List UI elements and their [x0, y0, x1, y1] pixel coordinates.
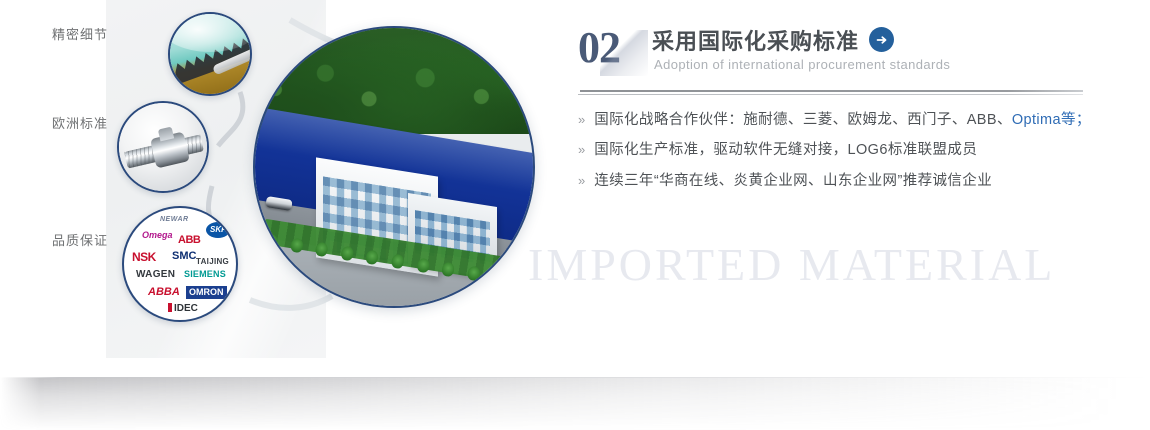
label-quality-assurance: 品质保证 [52, 230, 108, 249]
brand-logo-cloud: NEWAR SKF Omega ABB NSK SMC TAIJING WAGE… [124, 208, 236, 320]
list-item: » 国际化生产标准，驱动软件无缝对接，LOG6标准联盟成员 [578, 142, 1090, 159]
bullet-marker-icon: » [578, 113, 585, 126]
bullet-text-lead: 国际化战略合作伙伴：施耐德、三菱、欧姆龙、西门子、ABB、 [594, 112, 1012, 128]
section-title-zh: 采用国际化采购标准 [652, 24, 859, 56]
list-item: » 国际化战略合作伙伴：施耐德、三菱、欧姆龙、西门子、ABB、Optima等； [578, 112, 1090, 129]
bullet-text: 国际化生产标准，驱动软件无缝对接，LOG6标准联盟成员 [594, 142, 977, 159]
label-precision: 精密细节 [52, 24, 108, 43]
label-european-standard: 欧洲标准 [52, 113, 108, 132]
header-divider [578, 90, 1083, 95]
bullet-text-highlight: Optima等； [1012, 112, 1091, 128]
bubble-brand-logos: NEWAR SKF Omega ABB NSK SMC TAIJING WAGE… [122, 206, 238, 322]
brand-logo-omron: OMRON [186, 286, 227, 299]
section-content: 02 采用国际化采购标准 Adoption of international p… [578, 24, 1090, 90]
brand-logo-idec: IDEC [168, 303, 198, 314]
brand-logo-wagen: WAGEN [136, 270, 175, 280]
factory-aerial-photo [253, 26, 535, 308]
list-item: » 连续三年“华商在线、炎黄企业网、山东企业网”推荐诚信企业 [578, 173, 1090, 190]
bubble-ball-screw [117, 101, 209, 193]
arrow-right-icon[interactable] [869, 27, 894, 52]
section-number: 02 [578, 26, 620, 70]
bullet-text-lead: 连续三年“华商在线、炎黄企业网、山东企业网”推荐诚信企业 [594, 173, 992, 189]
brand-logo-abb: ABB [178, 235, 200, 246]
brand-logo-siemens: SIEMENS [184, 270, 226, 279]
bottom-shadow-band [0, 378, 1150, 430]
gloss-highlight [168, 12, 252, 52]
brand-logo-newar: NEWAR [160, 216, 189, 223]
feature-bullet-list: » 国际化战略合作伙伴：施耐德、三菱、欧姆龙、西门子、ABB、Optima等； … [578, 112, 1090, 203]
bullet-text-lead: 国际化生产标准，驱动软件无缝对接，LOG6标准联盟成员 [594, 142, 977, 158]
bubble-precision-detail [168, 12, 252, 96]
bottom-hairline [0, 377, 1150, 378]
bullet-marker-icon: » [578, 174, 585, 187]
brand-logo-nsk: NSK [132, 251, 156, 263]
brand-logo-abba: ABBA [148, 287, 180, 298]
bullet-text: 国际化战略合作伙伴：施耐德、三菱、欧姆龙、西门子、ABB、Optima等； [594, 112, 1091, 129]
section-title-en: Adoption of international procurement st… [654, 57, 950, 72]
brand-logo-taijing: TAIJING [196, 258, 229, 266]
promo-banner: 精密细节 欧洲标准 品质保证 NEWAR SKF Omega ABB NSK S… [0, 0, 1150, 430]
brand-logo-omega: Omega [142, 231, 173, 240]
watermark-text: IMPORTED MATERIAL [528, 238, 1055, 291]
brand-logo-smc: SMC [172, 251, 196, 262]
brand-logo-skf: SKF [206, 222, 230, 238]
section-header: 02 采用国际化采购标准 Adoption of international p… [578, 24, 1090, 90]
bullet-marker-icon: » [578, 143, 585, 156]
bullet-text: 连续三年“华商在线、炎黄企业网、山东企业网”推荐诚信企业 [594, 173, 992, 190]
